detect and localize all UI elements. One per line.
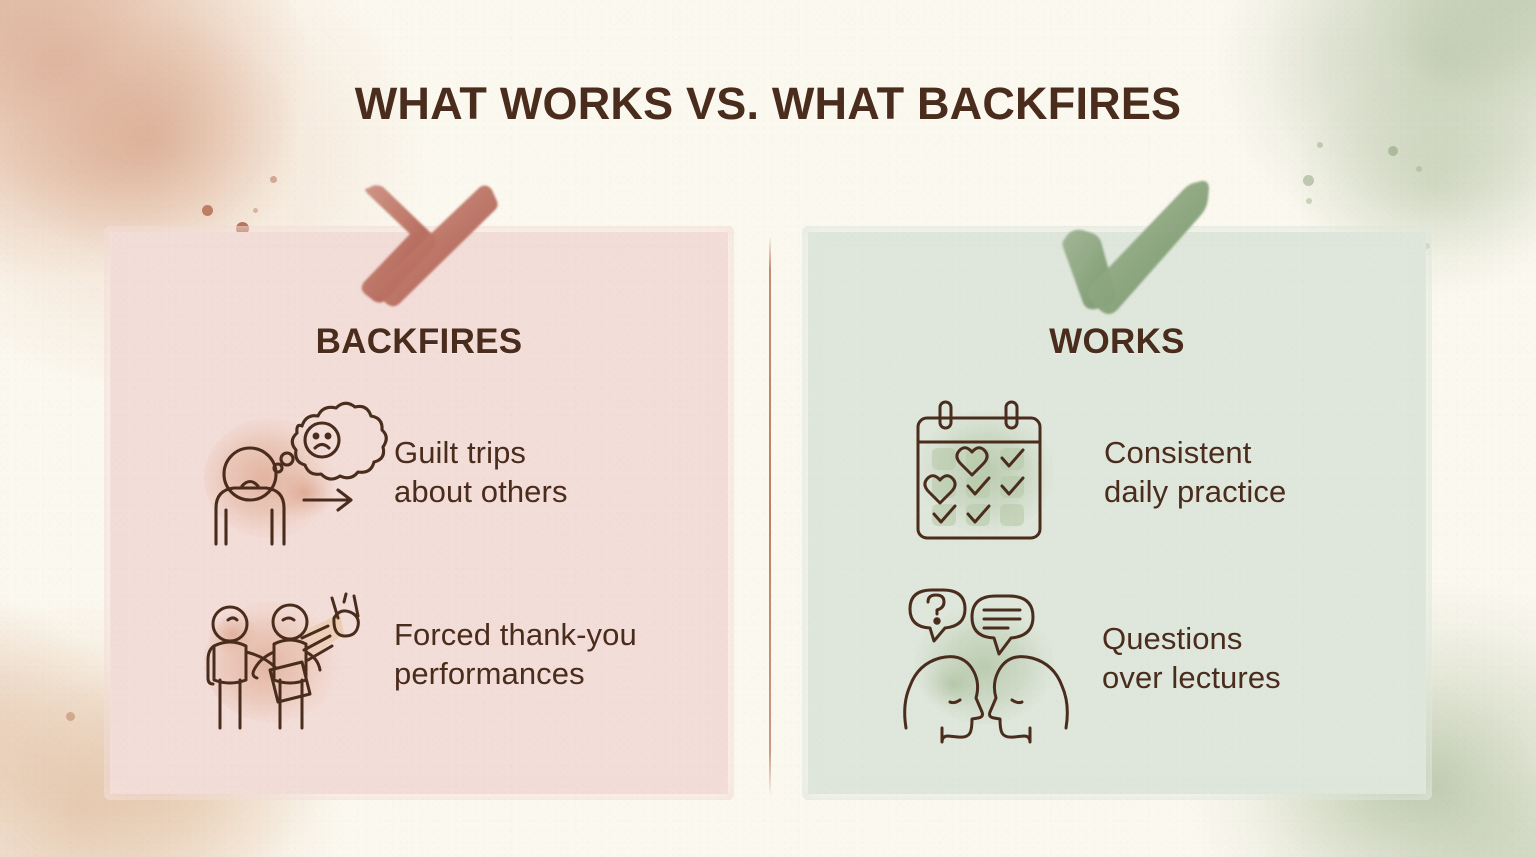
ink-speckle (1416, 166, 1422, 172)
list-item: Questions over lectures (896, 578, 1281, 738)
guilt-trip-icon (192, 392, 372, 552)
forced-performance-icon (192, 574, 372, 734)
list-item-label: Guilt trips about others (394, 433, 568, 512)
calendar-habit-icon (898, 392, 1078, 552)
works-heading: WORKS (808, 322, 1426, 362)
list-item-label: Consistent daily practice (1104, 433, 1286, 512)
x-mark-icon (352, 178, 498, 310)
list-item: Guilt trips about others (192, 392, 568, 552)
ink-speckle (253, 208, 258, 213)
vertical-divider (769, 236, 771, 796)
list-item: Forced thank-you performances (192, 574, 637, 734)
ink-speckle (270, 176, 277, 183)
backfires-heading: BACKFIRES (110, 322, 728, 362)
ink-speckle (1388, 146, 1398, 156)
ink-speckle (1306, 198, 1312, 204)
conversation-heads-icon (896, 578, 1076, 738)
list-item-label: Forced thank-you performances (394, 615, 637, 694)
slide-canvas: WHAT WORKS VS. WHAT BACKFIRES (0, 0, 1536, 857)
ink-speckle (1303, 175, 1314, 186)
ink-speckle (66, 712, 75, 721)
check-mark-icon (1058, 176, 1210, 312)
list-item: Consistent daily practice (898, 392, 1286, 552)
ink-speckle (202, 205, 213, 216)
ink-speckle (1317, 142, 1323, 148)
list-item-label: Questions over lectures (1102, 619, 1281, 698)
page-title: WHAT WORKS VS. WHAT BACKFIRES (0, 78, 1536, 130)
